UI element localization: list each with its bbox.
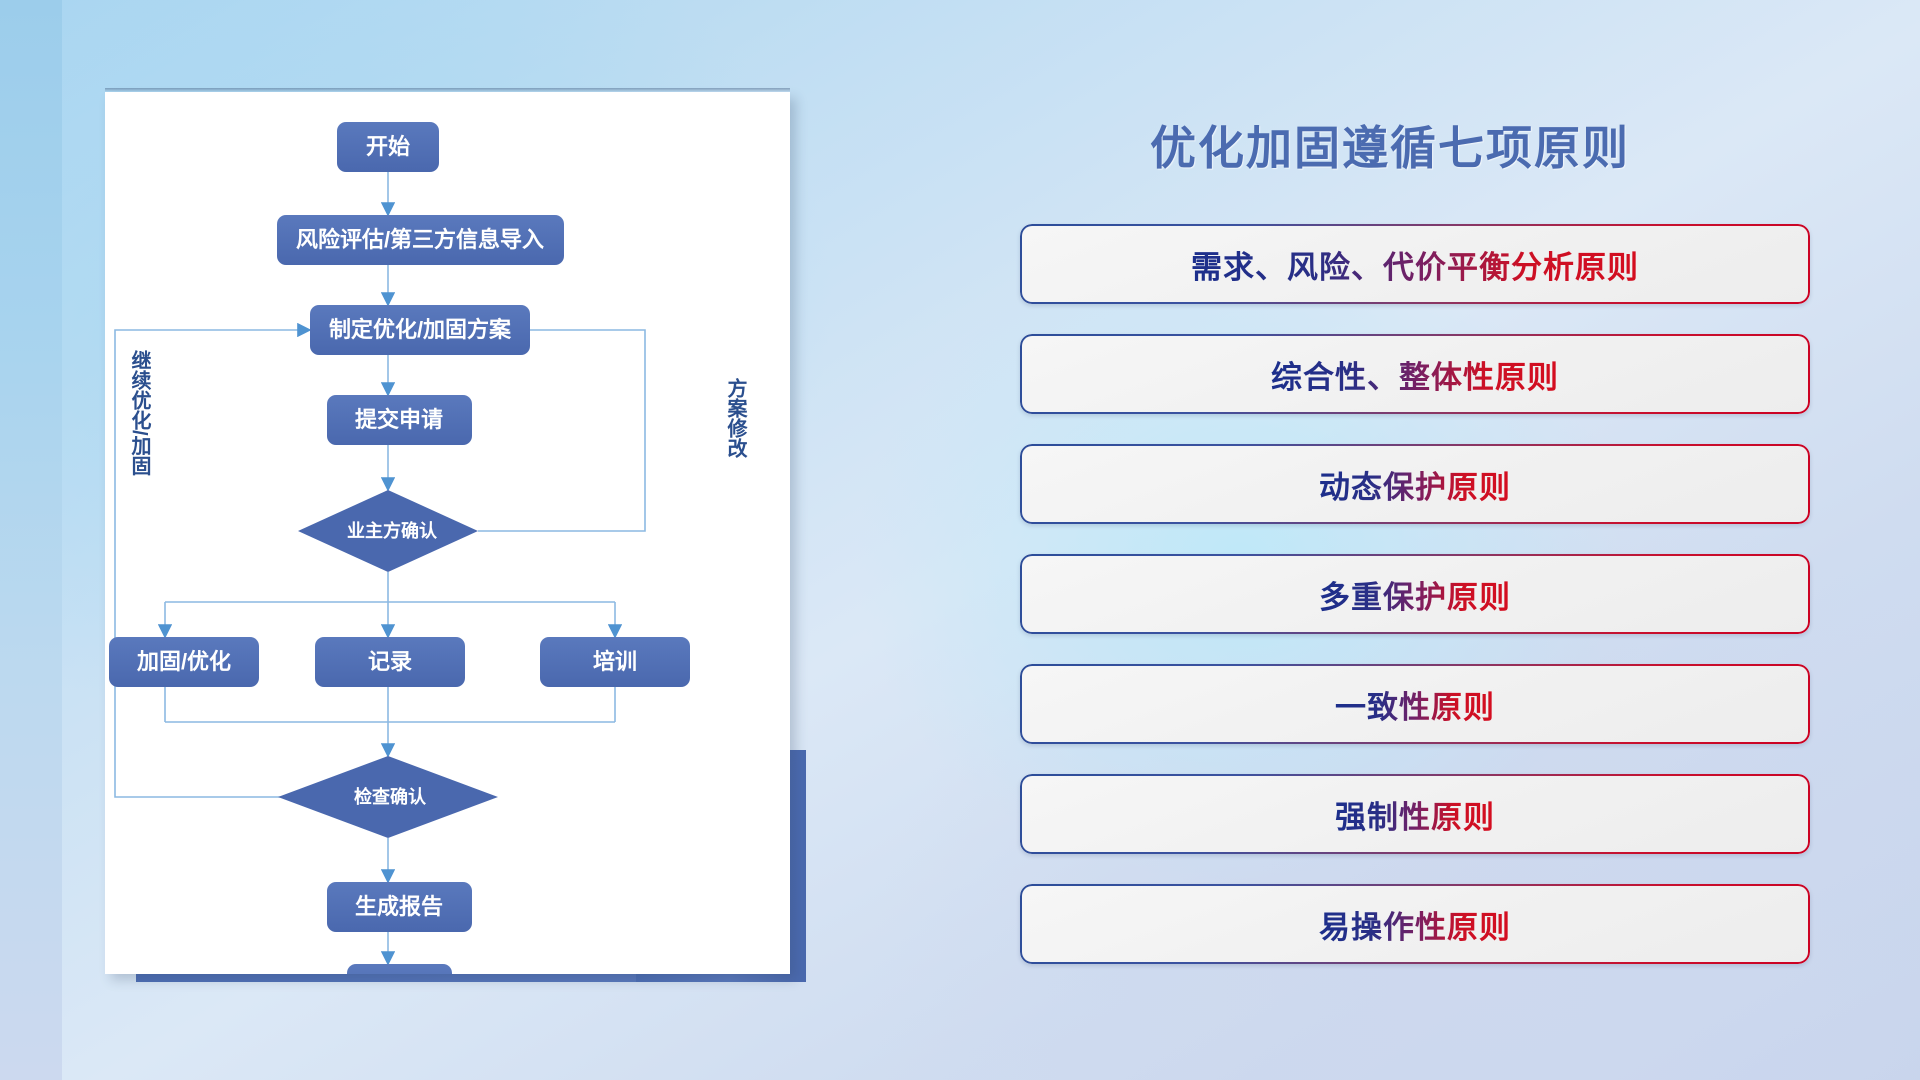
principle-label: 强制性原则 bbox=[1335, 792, 1495, 837]
principle-label: 一致性原则 bbox=[1335, 682, 1495, 727]
edge-label-right-loop: 方案修改 bbox=[724, 377, 748, 459]
node-training-label: 培训 bbox=[593, 649, 637, 674]
node-owner-confirm[interactable]: 业主方确认 bbox=[298, 490, 478, 572]
node-owner-confirm-label: 业主方确认 bbox=[347, 520, 438, 541]
node-training[interactable]: 培训 bbox=[540, 637, 690, 687]
edge-owner-plan-loop bbox=[470, 330, 645, 531]
node-record[interactable]: 记录 bbox=[315, 637, 465, 687]
principle-label: 易操作性原则 bbox=[1319, 902, 1511, 947]
node-submit-label: 提交申请 bbox=[355, 407, 443, 432]
node-submit[interactable]: 提交申请 bbox=[327, 395, 472, 445]
node-report-label: 生成报告 bbox=[355, 894, 443, 919]
node-start[interactable]: 开始 bbox=[337, 122, 439, 172]
node-reinforce[interactable]: 加固/优化 bbox=[109, 637, 259, 687]
principle-label: 动态保护原则 bbox=[1319, 462, 1511, 507]
node-start-label: 开始 bbox=[366, 134, 410, 159]
node-reinforce-label: 加固/优化 bbox=[136, 649, 231, 674]
principle-item-2[interactable]: 综合性、整体性原则 bbox=[1020, 334, 1810, 414]
node-check[interactable]: 检查确认 bbox=[278, 756, 498, 838]
principle-label: 多重保护原则 bbox=[1319, 572, 1511, 617]
node-record-label: 记录 bbox=[368, 649, 412, 674]
node-risk[interactable]: 风险评估/第三方信息导入 bbox=[277, 215, 564, 265]
panel-title: 优化加固遵循七项原则 bbox=[1150, 112, 1850, 178]
edge-label-left-loop: 继续优化/加固 bbox=[128, 349, 152, 476]
node-plan[interactable]: 制定优化/加固方案 bbox=[310, 305, 530, 355]
flowchart-card: 开始 风险评估/第三方信息导入 制定优化/加固方案 提交申请 业主方确认 加固/… bbox=[105, 92, 790, 974]
node-plan-label: 制定优化/加固方案 bbox=[329, 317, 512, 342]
principle-item-5[interactable]: 一致性原则 bbox=[1020, 664, 1810, 744]
principle-item-1[interactable]: 需求、风险、代价平衡分析原则 bbox=[1020, 224, 1810, 304]
principle-label: 综合性、整体性原则 bbox=[1271, 352, 1559, 397]
principle-item-7[interactable]: 易操作性原则 bbox=[1020, 884, 1810, 964]
principle-item-6[interactable]: 强制性原则 bbox=[1020, 774, 1810, 854]
node-risk-label: 风险评估/第三方信息导入 bbox=[296, 227, 544, 252]
node-report[interactable]: 生成报告 bbox=[327, 882, 472, 932]
principle-label: 需求、风险、代价平衡分析原则 bbox=[1191, 242, 1639, 287]
principle-item-4[interactable]: 多重保护原则 bbox=[1020, 554, 1810, 634]
principles-list: 需求、风险、代价平衡分析原则 综合性、整体性原则 动态保护原则 多重保护原则 一… bbox=[1020, 224, 1820, 994]
flowchart-svg: 开始 风险评估/第三方信息导入 制定优化/加固方案 提交申请 业主方确认 加固/… bbox=[105, 92, 790, 974]
slide-canvas: 开始 风险评估/第三方信息导入 制定优化/加固方案 提交申请 业主方确认 加固/… bbox=[0, 0, 1920, 1080]
node-end[interactable]: 结束 bbox=[347, 964, 452, 974]
node-check-label: 检查确认 bbox=[354, 786, 427, 807]
principle-item-3[interactable]: 动态保护原则 bbox=[1020, 444, 1810, 524]
principles-panel: 优化加固遵循七项原则 需求、风险、代价平衡分析原则 综合性、整体性原则 动态保护… bbox=[1020, 96, 1850, 996]
